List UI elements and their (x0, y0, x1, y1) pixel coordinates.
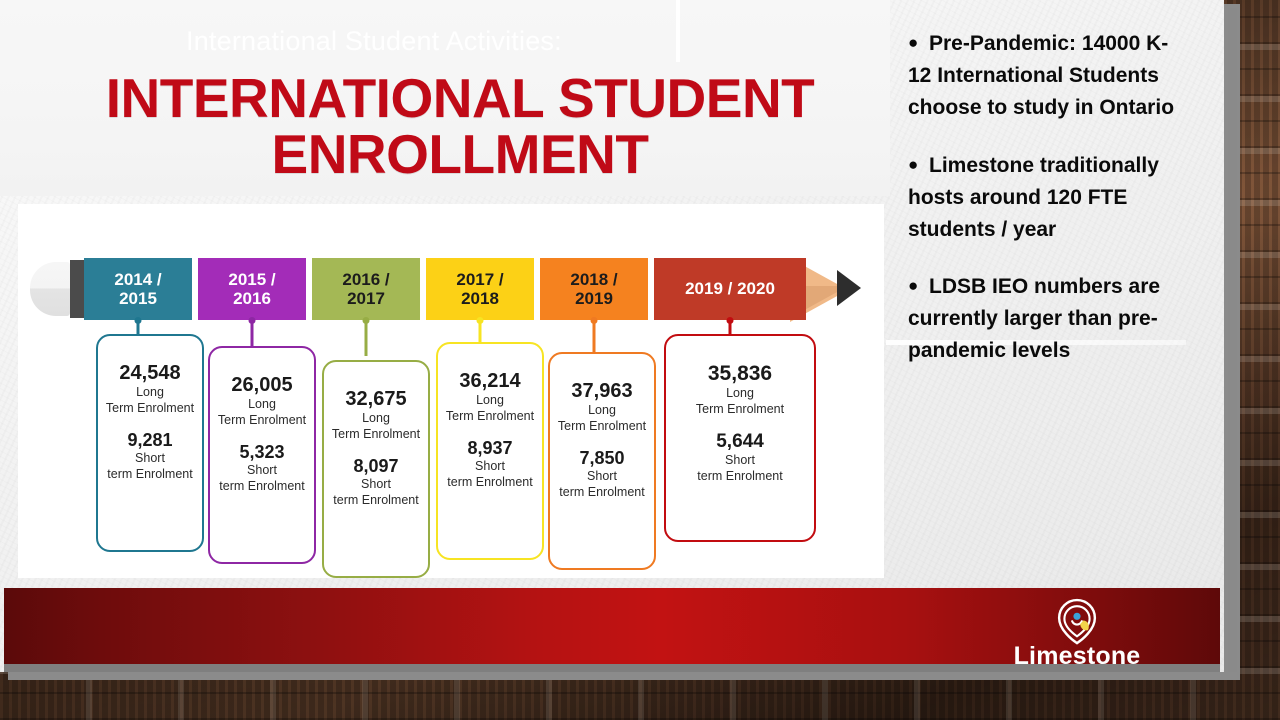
enrollment-card-1[interactable]: 24,548Long Term Enrolment9,281Short term… (96, 334, 204, 552)
card-spacer (438, 424, 542, 438)
long-term-value: 37,963 (550, 380, 654, 403)
enrollment-card-4[interactable]: 36,214Long Term Enrolment8,937Short term… (436, 342, 544, 560)
pencil-ferrule-icon (70, 260, 84, 318)
key-point-text: Limestone traditionally hosts around 120… (908, 154, 1159, 241)
key-point-text: LDSB IEO numbers are currently larger th… (908, 275, 1160, 362)
bullet-dot-icon: ● (908, 155, 929, 174)
timeline-segment-1[interactable]: 2014 / 2015 (84, 258, 192, 320)
short-term-label: Short term Enrolment (550, 469, 654, 500)
slide-subtitle: International Student Activities: (186, 28, 686, 55)
logo-wordmark: Limestone (992, 644, 1162, 669)
long-term-label: Long Term Enrolment (550, 403, 654, 434)
enrollment-card-row: 24,548Long Term Enrolment9,281Short term… (84, 334, 874, 564)
short-term-label: Short term Enrolment (438, 459, 542, 490)
bullet-dot-icon: ● (908, 276, 929, 295)
timeline-segment-label: 2015 / 2016 (228, 270, 275, 308)
card-spacer (210, 428, 314, 442)
short-term-label: Short term Enrolment (666, 453, 814, 484)
key-point-1: ● Pre-Pandemic: 14000 K-12 International… (908, 28, 1180, 124)
timeline-segment-row: 2014 / 20152015 / 20162016 / 20172017 / … (84, 258, 874, 322)
long-term-label: Long Term Enrolment (438, 393, 542, 424)
long-term-label: Long Term Enrolment (324, 411, 428, 442)
short-term-label: Short term Enrolment (324, 477, 428, 508)
page-title: INTERNATIONAL STUDENT ENROLLMENT (60, 70, 860, 182)
frame-rule (1228, 8, 1237, 672)
enrollment-card-3[interactable]: 32,675Long Term Enrolment8,097Short term… (322, 360, 430, 578)
short-term-value: 8,097 (324, 456, 428, 477)
short-term-label: Short term Enrolment (98, 451, 202, 482)
timeline-segment-3[interactable]: 2016 / 2017 (312, 258, 420, 320)
long-term-value: 24,548 (98, 362, 202, 385)
long-term-value: 36,214 (438, 370, 542, 393)
enrollment-timeline-chart: 2014 / 20152015 / 20162016 / 20172017 / … (18, 204, 884, 578)
long-term-label: Long Term Enrolment (666, 386, 814, 417)
timeline-segment-label: 2019 / 2020 (685, 279, 775, 298)
short-term-label: Short term Enrolment (210, 463, 314, 494)
enrollment-card-2[interactable]: 26,005Long Term Enrolment5,323Short term… (208, 346, 316, 564)
long-term-label: Long Term Enrolment (210, 397, 314, 428)
short-term-value: 5,323 (210, 442, 314, 463)
pencil-eraser-icon (30, 262, 70, 316)
bullet-dot-icon: ● (908, 33, 929, 52)
timeline-segment-label: 2018 / 2019 (570, 270, 617, 308)
short-term-value: 5,644 (666, 431, 814, 453)
key-point-3: ● LDSB IEO numbers are currently larger … (908, 271, 1180, 367)
timeline-segment-label: 2014 / 2015 (114, 270, 161, 308)
long-term-value: 32,675 (324, 388, 428, 411)
limestone-logo: Limestone DISTRICT SCHOOL BOARD (992, 596, 1162, 664)
timeline-segment-label: 2016 / 2017 (342, 270, 389, 308)
timeline-segment-2[interactable]: 2015 / 2016 (198, 258, 306, 320)
timeline-segment-5[interactable]: 2018 / 2019 (540, 258, 648, 320)
card-spacer (324, 442, 428, 456)
short-term-value: 9,281 (98, 430, 202, 451)
limestone-pin-icon (1051, 596, 1103, 648)
timeline-segment-4[interactable]: 2017 / 2018 (426, 258, 534, 320)
short-term-value: 7,850 (550, 448, 654, 469)
long-term-label: Long Term Enrolment (98, 385, 202, 416)
enrollment-card-6[interactable]: 35,836Long Term Enrolment5,644Short term… (664, 334, 816, 542)
long-term-value: 26,005 (210, 374, 314, 397)
key-point-text: Pre-Pandemic: 14000 K-12 International S… (908, 32, 1174, 119)
timeline-segment-label: 2017 / 2018 (456, 270, 503, 308)
card-spacer (550, 434, 654, 448)
long-term-value: 35,836 (666, 362, 814, 386)
enrollment-card-5[interactable]: 37,963Long Term Enrolment7,850Short term… (548, 352, 656, 570)
card-spacer (666, 417, 814, 431)
slide-sheet: International Student Activities: INTERN… (0, 0, 1224, 672)
timeline-segment-6[interactable]: 2019 / 2020 (654, 258, 806, 320)
key-points-list: ● Pre-Pandemic: 14000 K-12 International… (908, 28, 1180, 393)
short-term-value: 8,937 (438, 438, 542, 459)
slide-stage: International Student Activities: INTERN… (0, 0, 1280, 720)
key-point-2: ● Limestone traditionally hosts around 1… (908, 150, 1180, 246)
card-spacer (98, 416, 202, 430)
